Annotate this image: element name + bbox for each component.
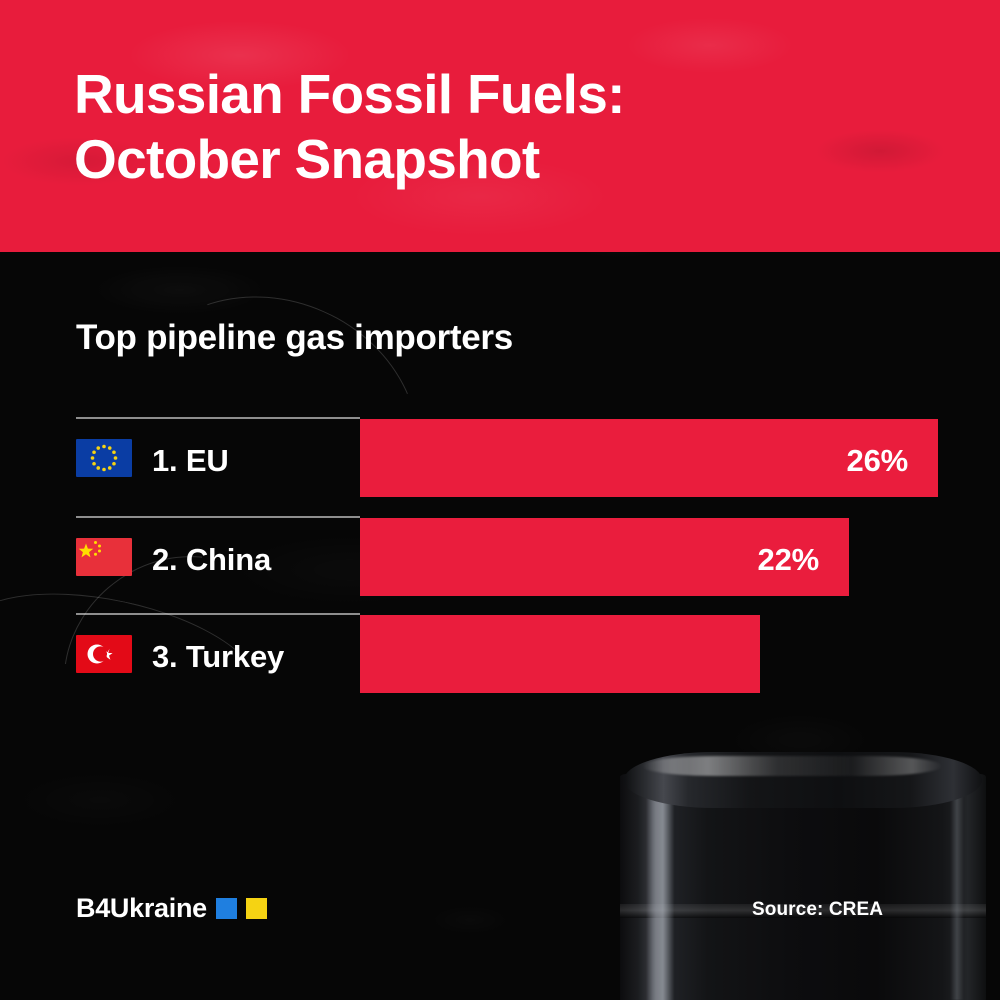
oil-barrel-graphic — [620, 752, 986, 1000]
barrel-rim-sheen — [642, 756, 942, 776]
bar-value-china: 22% — [360, 542, 819, 578]
bar-label-eu: 1. EU — [152, 443, 229, 479]
bar-label-china: 2. China — [152, 542, 271, 578]
row-separator — [76, 516, 360, 518]
turkey-flag-icon — [76, 635, 132, 673]
flag-turkey — [76, 635, 132, 673]
logo-text: B4Ukraine — [76, 893, 207, 924]
flag-eu — [76, 439, 132, 477]
china-flag-icon — [76, 538, 132, 576]
source-label: Source: CREA — [752, 899, 883, 921]
infographic-canvas: Russian Fossil Fuels: October Snapshot T… — [0, 0, 1000, 1000]
ukraine-flag-yellow-square-icon — [246, 898, 267, 919]
bar-value-eu: 26% — [360, 443, 908, 479]
flag-china — [76, 538, 132, 576]
barrel-highlight-left — [646, 792, 674, 1000]
bar-turkey — [360, 615, 760, 693]
row-separator — [76, 613, 360, 615]
b4ukraine-logo: B4Ukraine — [76, 893, 267, 924]
bar-label-turkey: 3. Turkey — [152, 639, 284, 675]
row-separator — [76, 417, 360, 419]
barrel-highlight-right — [950, 794, 964, 1000]
eu-flag-icon — [76, 439, 132, 477]
ukraine-flag-blue-square-icon — [216, 898, 237, 919]
